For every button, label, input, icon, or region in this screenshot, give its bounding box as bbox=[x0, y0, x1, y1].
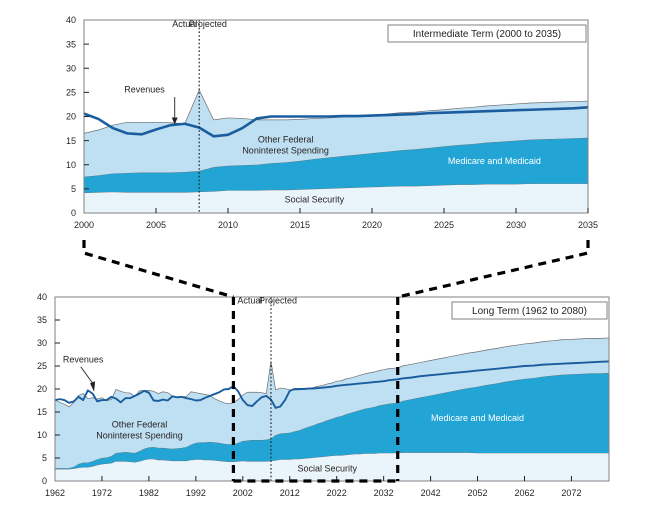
revenues-label: Revenues bbox=[124, 84, 165, 94]
other-federal-label: Noninterest Spending bbox=[96, 431, 183, 441]
y-tick-label: 40 bbox=[66, 15, 76, 25]
panel-intermediate-term: 0510152025303540200020052010201520202025… bbox=[66, 15, 598, 230]
zoom-connector-left bbox=[84, 240, 233, 297]
x-tick-label: 2035 bbox=[578, 220, 598, 230]
chart-svg: 0510152025303540200020052010201520202025… bbox=[0, 0, 653, 521]
zoom-connector-right bbox=[398, 240, 588, 297]
y-tick-label: 30 bbox=[66, 63, 76, 73]
y-tick-label: 0 bbox=[71, 208, 76, 218]
x-tick-label: 2012 bbox=[280, 488, 300, 498]
y-tick-label: 5 bbox=[42, 453, 47, 463]
other-federal-label: Other Federal bbox=[258, 135, 314, 145]
x-tick-label: 2010 bbox=[218, 220, 238, 230]
projected-label: Projected bbox=[259, 295, 297, 305]
revenues-label: Revenues bbox=[63, 354, 104, 364]
y-tick-label: 15 bbox=[66, 136, 76, 146]
x-tick-label: 2062 bbox=[514, 488, 534, 498]
x-tick-label: 1992 bbox=[186, 488, 206, 498]
x-tick-label: 2032 bbox=[374, 488, 394, 498]
x-tick-label: 1962 bbox=[45, 488, 65, 498]
y-tick-label: 35 bbox=[37, 315, 47, 325]
x-tick-label: 2000 bbox=[74, 220, 94, 230]
x-tick-label: 2025 bbox=[434, 220, 454, 230]
y-tick-label: 35 bbox=[66, 39, 76, 49]
x-tick-label: 2030 bbox=[506, 220, 526, 230]
x-tick-label: 2052 bbox=[468, 488, 488, 498]
panel-title-text: Long Term (1962 to 2080) bbox=[472, 306, 587, 317]
figure-container: 0510152025303540200020052010201520202025… bbox=[0, 0, 653, 521]
y-tick-label: 10 bbox=[66, 160, 76, 170]
panel-long-term: 0510152025303540196219721982199220022012… bbox=[37, 292, 609, 498]
x-tick-label: 2015 bbox=[290, 220, 310, 230]
other-federal-label: Other Federal bbox=[112, 420, 168, 430]
x-tick-label: 2002 bbox=[233, 488, 253, 498]
x-tick-label: 1982 bbox=[139, 488, 159, 498]
y-tick-label: 30 bbox=[37, 338, 47, 348]
y-tick-label: 15 bbox=[37, 407, 47, 417]
medicare-medicaid-label: Medicare and Medicaid bbox=[431, 413, 524, 423]
y-tick-label: 10 bbox=[37, 430, 47, 440]
x-tick-label: 2022 bbox=[327, 488, 347, 498]
panel-title-text: Intermediate Term (2000 to 2035) bbox=[413, 29, 561, 40]
x-tick-label: 2042 bbox=[421, 488, 441, 498]
y-tick-label: 25 bbox=[37, 361, 47, 371]
x-tick-label: 1972 bbox=[92, 488, 112, 498]
projected-label: Projected bbox=[189, 19, 227, 29]
social-security-label: Social Security bbox=[298, 463, 358, 473]
x-tick-label: 2072 bbox=[561, 488, 581, 498]
y-tick-label: 5 bbox=[71, 184, 76, 194]
y-tick-label: 20 bbox=[37, 384, 47, 394]
y-tick-label: 25 bbox=[66, 88, 76, 98]
social-security-label: Social Security bbox=[285, 194, 345, 204]
x-tick-label: 2020 bbox=[362, 220, 382, 230]
y-tick-label: 40 bbox=[37, 292, 47, 302]
y-tick-label: 0 bbox=[42, 476, 47, 486]
x-tick-label: 2005 bbox=[146, 220, 166, 230]
other-federal-label: Noninterest Spending bbox=[242, 146, 329, 156]
y-tick-label: 20 bbox=[66, 112, 76, 122]
medicare-medicaid-label: Medicare and Medicaid bbox=[448, 156, 541, 166]
